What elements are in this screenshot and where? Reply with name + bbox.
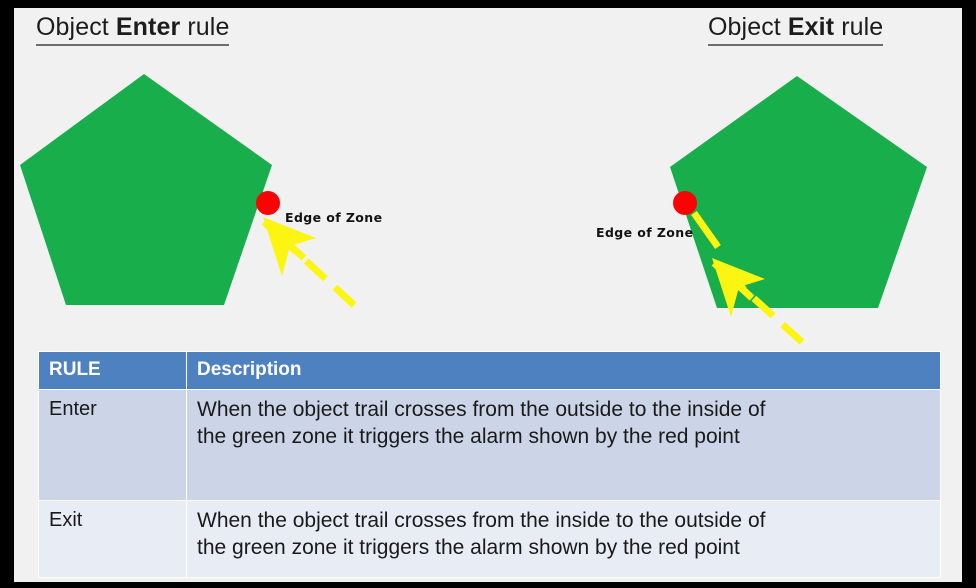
table-header-row: RULE Description bbox=[39, 352, 941, 390]
table-row: Exit When the object trail crosses from … bbox=[39, 500, 941, 577]
description-line: When the object trail crosses from the o… bbox=[197, 396, 930, 424]
cell-description-enter: When the object trail crosses from the o… bbox=[187, 389, 941, 500]
enter-zone-illustration bbox=[14, 60, 494, 350]
red-alarm-point bbox=[673, 191, 697, 215]
column-header-rule: RULE bbox=[39, 352, 187, 390]
rules-table: RULE Description Enter When the object t… bbox=[38, 351, 941, 578]
diagram-exit: Edge of Zone bbox=[482, 60, 962, 350]
red-alarm-point bbox=[256, 191, 280, 215]
column-header-description: Description bbox=[187, 352, 941, 390]
title-exit-emphasis: Exit bbox=[788, 13, 834, 41]
title-enter-emphasis: Enter bbox=[116, 13, 180, 41]
description-line: the green zone it triggers the alarm sho… bbox=[197, 423, 930, 451]
edge-of-zone-label-enter: Edge of Zone bbox=[285, 210, 382, 225]
exit-zone-illustration bbox=[482, 60, 962, 350]
title-exit-suffix: rule bbox=[834, 13, 883, 41]
cell-rule-enter: Enter bbox=[39, 389, 187, 500]
title-exit-prefix: Object bbox=[708, 13, 788, 41]
green-zone-pentagon bbox=[20, 74, 272, 305]
panel-title-enter: Object Enter rule bbox=[36, 13, 229, 46]
green-zone-pentagon bbox=[670, 76, 927, 308]
cell-rule-exit: Exit bbox=[39, 500, 187, 577]
slide-canvas: Object Enter rule Edge of Zone Object Ex… bbox=[14, 8, 962, 582]
title-enter-suffix: rule bbox=[180, 13, 229, 41]
description-line: the green zone it triggers the alarm sho… bbox=[197, 534, 930, 562]
description-line: When the object trail crosses from the i… bbox=[197, 507, 930, 535]
slide-frame: Object Enter rule Edge of Zone Object Ex… bbox=[0, 0, 976, 588]
cell-description-exit: When the object trail crosses from the i… bbox=[187, 500, 941, 577]
table-row: Enter When the object trail crosses from… bbox=[39, 389, 941, 500]
edge-of-zone-label-exit: Edge of Zone bbox=[596, 225, 693, 240]
panel-title-exit: Object Exit rule bbox=[708, 13, 883, 46]
title-enter-prefix: Object bbox=[36, 13, 116, 41]
diagram-enter: Edge of Zone bbox=[14, 60, 494, 350]
